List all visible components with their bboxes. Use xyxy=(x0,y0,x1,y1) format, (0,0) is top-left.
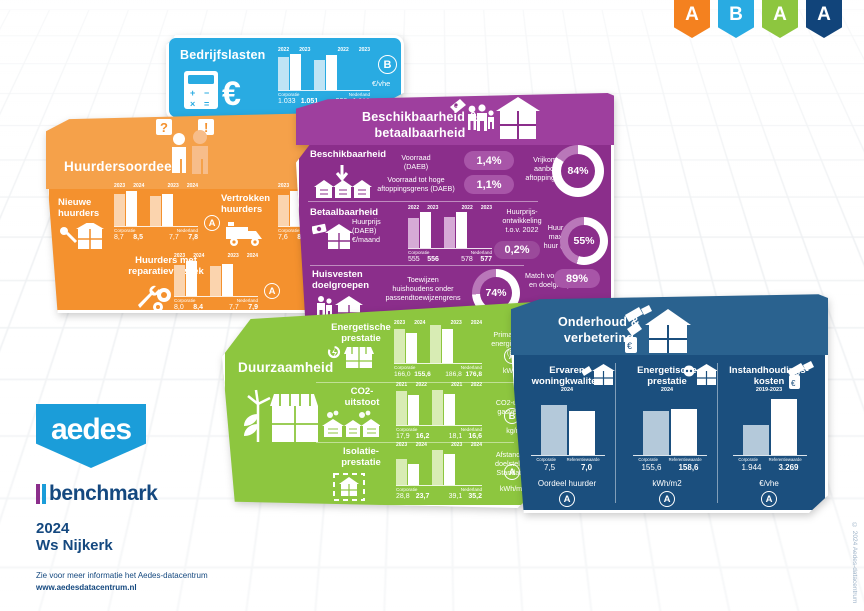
year-label: 2023 xyxy=(174,253,185,259)
grade-instandhoudingskosten: A xyxy=(761,491,777,507)
value: 7,6 xyxy=(278,234,288,241)
year-label: 2022 xyxy=(462,205,473,211)
chart-group-labels: Corporatie Referentiewaarde xyxy=(531,455,605,462)
divider-vertical xyxy=(717,363,718,503)
branding-block: aedes benchmark 2024 Ws Nijkerk Zie voor… xyxy=(36,404,296,594)
year-label: 2024 xyxy=(471,442,482,448)
sub-title-huisvesten: Huisvestendoelgroepen xyxy=(312,269,369,291)
divider-vertical xyxy=(615,363,616,503)
svg-text:€: € xyxy=(627,341,632,351)
value: 35,2 xyxy=(468,493,482,500)
donut-value: 84% xyxy=(567,165,588,177)
group-label: Corporatie xyxy=(408,250,429,255)
year-label: 2023 xyxy=(451,442,462,448)
benchmark-logo: benchmark xyxy=(36,482,296,506)
panel-title-duurzaamheid: Duurzaamheid xyxy=(238,360,333,375)
chart-years: 2022 2023 2022 2023 xyxy=(408,205,492,211)
value: 8,4 xyxy=(193,304,203,311)
row-title-co2-uitstoot: CO2-uitstoot xyxy=(326,386,398,408)
aedes-wordmark: aedes xyxy=(51,413,131,447)
value: 1.944 xyxy=(741,463,761,472)
chart-years: 2021 2022 2021 2022 xyxy=(396,382,482,388)
chart-years: 2023 2024 2023 2024 xyxy=(114,183,198,189)
year-label: 2024 xyxy=(193,253,204,259)
calculator-euro-icon: +− ×= € xyxy=(182,69,260,111)
chart-bars xyxy=(633,397,707,455)
col-period-1: 2024 xyxy=(521,387,613,394)
houses-arrow-down-icon xyxy=(314,163,372,199)
unit-bedrijfslasten: €/vhe xyxy=(372,79,390,88)
corporation-name: Ws Nijkerk xyxy=(36,537,296,554)
value-match-voorraad: 89% xyxy=(554,269,600,288)
family-house-pricetag-icon: € xyxy=(448,95,540,147)
year-label: 2024 xyxy=(247,253,258,259)
value: 23,7 xyxy=(416,493,430,500)
year-label: 2023 xyxy=(278,183,289,189)
info-url[interactable]: www.aedesdatacentrum.nl xyxy=(36,582,296,594)
group-label: Corporatie xyxy=(394,365,415,370)
benchmark-bar-blue xyxy=(42,484,46,504)
donut-huur-maximaal: 55% xyxy=(560,217,608,265)
value-huurprijsontwikkeling: 0,2% xyxy=(494,241,540,259)
chart-values: 17,9 16,2 18,1 16,6 xyxy=(396,433,482,440)
chart-bars xyxy=(396,449,482,485)
unit-ervaren-woningkwaliteit: Oordeel huurder xyxy=(523,479,611,489)
chart-group-labels: Corporatie Nederland xyxy=(114,226,198,233)
value: 555 xyxy=(408,256,420,263)
chart-bars xyxy=(396,389,482,425)
year-label: 2024 xyxy=(133,183,144,189)
donut-value: 55% xyxy=(573,235,594,247)
info-line-1: Zie voor meer informatie het Aedes-datac… xyxy=(36,570,296,582)
panel-title-bedrijfslasten: Bedrijfslasten xyxy=(180,48,265,62)
brush-house-icon xyxy=(581,363,615,387)
panel-onderhoud: Onderhoud &verbetering € Ervarenwoningkw… xyxy=(511,293,828,513)
grade-reparatieverzoek: A xyxy=(264,283,280,299)
moving-truck-icon xyxy=(224,221,268,247)
year-label: 2023 xyxy=(168,183,179,189)
year-label: 2023 xyxy=(396,442,407,448)
year-label: 2024 xyxy=(414,320,425,326)
group-label: Nederland xyxy=(461,365,482,370)
chart-values: 155,6 158,6 xyxy=(633,463,707,472)
chart-group-labels: Corporatie Referentiewaarde xyxy=(633,455,707,462)
chart-years: 2023 2024 2023 2024 xyxy=(174,253,258,259)
row-title-energetische-prestatie: Energetischeprestatie xyxy=(322,322,400,344)
grade-energetische-prestatie-onderhoud: A xyxy=(659,491,675,507)
value: 577 xyxy=(480,256,492,263)
donut-vrijkomend-aanbod: 84% xyxy=(552,145,604,197)
benchmark-wordmark: benchmark xyxy=(49,482,157,506)
value: 17,9 xyxy=(396,433,410,440)
svg-text:×: × xyxy=(190,99,195,109)
chart-years: 2023 2024 2023 2024 xyxy=(396,442,482,448)
group-label: Corporatie xyxy=(396,427,417,432)
insulation-house-icon xyxy=(330,470,368,504)
value: 39,1 xyxy=(449,493,463,500)
chart-group-labels: Corporatie Nederland xyxy=(394,363,482,370)
chart-years: 2022 2023 2022 2023 xyxy=(278,47,370,53)
key-house-icon xyxy=(58,223,108,253)
wrench-gears-icon xyxy=(134,283,178,313)
chart-values: 166,0 155,6 186,8 176,8 xyxy=(394,371,482,378)
report-year: 2024 xyxy=(36,520,296,537)
panel-beschikbaarheid: Beschikbaarheid &betaalbaarheid € Beschi… xyxy=(296,93,614,325)
chart-energetische-prestatie: 2023 2024 2023 2024 Corporatie Nederland… xyxy=(394,320,482,378)
divider xyxy=(308,201,538,202)
year-label: 2023 xyxy=(114,183,125,189)
chart-bars xyxy=(174,260,258,296)
chart-bars xyxy=(408,212,492,248)
divider xyxy=(310,265,524,266)
year-label: 2022 xyxy=(471,382,482,388)
value: 7,0 xyxy=(581,463,592,472)
group-label: Corporatie xyxy=(536,457,556,462)
chart-values: 555 556 578 577 xyxy=(408,256,492,263)
value: 556 xyxy=(427,256,439,263)
year-label: 2023 xyxy=(481,205,492,211)
year-label: 2021 xyxy=(451,382,462,388)
meter-house-icon xyxy=(683,363,717,387)
chart-values: 28,8 23,7 39,1 35,2 xyxy=(396,493,482,500)
value: 166,0 xyxy=(394,371,411,378)
svg-text:=: = xyxy=(204,99,209,109)
year-label: 2023 xyxy=(394,320,405,326)
group-label: Nederland xyxy=(177,228,198,233)
value: 7,5 xyxy=(544,463,555,472)
chart-huurprijs: 2022 2023 2022 2023 Corporatie Nederland… xyxy=(408,205,492,263)
svg-text:€: € xyxy=(791,379,796,388)
year-label: 2021 xyxy=(396,382,407,388)
chart-values: 8,7 8,5 7,7 7,8 xyxy=(114,234,198,241)
chart-group-labels: Corporatie Nederland xyxy=(408,248,492,255)
grade-ervaren-woningkwaliteit: A xyxy=(559,491,575,507)
group-label: Referentiewaarde xyxy=(669,457,702,462)
year-label: 2022 xyxy=(408,205,419,211)
value: 8,0 xyxy=(174,304,184,311)
value: 8,7 xyxy=(114,234,124,241)
year-label: 2022 xyxy=(416,382,427,388)
value: 18,1 xyxy=(449,433,463,440)
group-label: Nederland xyxy=(461,427,482,432)
value: 158,6 xyxy=(678,463,698,472)
caption-huurprijs: Huurprijs(DAEB)€/maand xyxy=(352,217,414,244)
badge-huurdersoordeel: A xyxy=(674,0,710,38)
grade-bedrijfslasten: B xyxy=(378,55,397,74)
badge-letter: A xyxy=(773,4,787,26)
panel-huurdersoordeel: Huurdersoordeel ? ! Nieuwehuurders 2023 … xyxy=(46,113,336,313)
benchmark-bar-purple xyxy=(36,484,40,504)
year-label: 2024 xyxy=(416,442,427,448)
badge-letter: B xyxy=(729,4,743,26)
value: 155,6 xyxy=(414,371,431,378)
group-label: Referentiewaarde xyxy=(567,457,600,462)
tools-pricetag-icon: € xyxy=(783,361,817,389)
row-title-isolatie-prestatie: Isolatie-prestatie xyxy=(322,446,400,468)
info-text: Zie voor meer informatie het Aedes-datac… xyxy=(36,570,296,594)
badge-letter: A xyxy=(817,4,831,26)
svg-text:−: − xyxy=(204,88,209,98)
caption-voorraad-daeb: Voorraad(DAEB) xyxy=(374,153,458,171)
chart-bars xyxy=(733,397,807,455)
group-label: Nederland xyxy=(471,250,492,255)
chart-ervaren-woningkwaliteit: Corporatie Referentiewaarde 7,5 7,0 xyxy=(531,397,605,472)
value: 186,8 xyxy=(445,371,462,378)
svg-text:?: ? xyxy=(160,120,168,135)
year-label: 2024 xyxy=(187,183,198,189)
grade-nieuwe-huurders: A xyxy=(204,215,220,231)
caption-voorraad-aftopping: Voorraad tot hogeaftoppingsgrens (DAEB) xyxy=(368,175,464,193)
year-label: 2024 xyxy=(471,320,482,326)
chart-instandhoudingskosten: Corporatie Referentiewaarde 1.944 3.269 xyxy=(733,397,807,472)
chart-bars xyxy=(278,54,370,90)
chart-energetische-prestatie-onderhoud: Corporatie Referentiewaarde 155,6 158,6 xyxy=(633,397,707,472)
group-label: Corporatie xyxy=(638,457,658,462)
co2-houses-icon xyxy=(322,410,380,438)
value: 3.269 xyxy=(778,463,798,472)
chart-isolatie-prestatie: 2023 2024 2023 2024 Corporatie Nederland… xyxy=(396,442,482,500)
chart-nieuwe-huurders: 2023 2024 2023 2024 Corporatie Nederland… xyxy=(114,183,198,241)
value: 8,5 xyxy=(133,234,143,241)
chart-group-labels: Corporatie Nederland xyxy=(396,425,482,432)
two-people-question-exclaim-icon: ? ! xyxy=(154,117,224,181)
value: 16,2 xyxy=(416,433,430,440)
value-voorraad-daeb: 1,4% xyxy=(464,151,514,170)
chart-values: 1.944 3.269 xyxy=(733,463,807,472)
value: 578 xyxy=(461,256,473,263)
group-label: Referentiewaarde xyxy=(769,457,802,462)
aedes-logo: aedes xyxy=(36,404,146,468)
chart-bars xyxy=(531,397,605,455)
year-label: 2023 xyxy=(299,47,310,53)
year-label: 2022 xyxy=(338,47,349,53)
chart-bars xyxy=(394,327,482,363)
year-label: 2023 xyxy=(359,47,370,53)
unit-instandhoudingskosten: €/vhe xyxy=(725,479,813,489)
value: 7,7 xyxy=(169,234,179,241)
chart-group-labels: Corporatie Nederland xyxy=(396,485,482,492)
value: 28,8 xyxy=(396,493,410,500)
year-label: 2023 xyxy=(427,205,438,211)
copyright-text: © 2024 Aedes-datacentrum xyxy=(851,522,858,603)
value: 7,8 xyxy=(188,234,198,241)
value: 1.033 xyxy=(278,98,296,105)
svg-text:€: € xyxy=(222,75,241,111)
score-badges: A B A A xyxy=(674,0,842,38)
svg-text:+: + xyxy=(190,88,195,98)
group-label: Corporatie xyxy=(114,228,135,233)
badge-onderhoud: A xyxy=(806,0,842,38)
year-label: 2023 xyxy=(228,253,239,259)
chart-co2-uitstoot: 2021 2022 2021 2022 Corporatie Nederland… xyxy=(396,382,482,440)
badge-duurzaamheid: A xyxy=(762,0,798,38)
group-label: Corporatie xyxy=(396,487,417,492)
badge-bedrijfslasten: B xyxy=(718,0,754,38)
badge-letter: A xyxy=(685,4,699,26)
infographic-stage: A B A A Bedrijfslasten +− ×= € 2022 2023… xyxy=(0,0,864,611)
value-voorraad-aftopping: 1,1% xyxy=(464,175,514,194)
group-label: Corporatie xyxy=(738,457,758,462)
chart-values: 7,5 7,0 xyxy=(531,463,605,472)
energy-house-icon xyxy=(326,344,376,370)
chart-bars xyxy=(114,190,198,226)
chart-group-labels: Corporatie Referentiewaarde xyxy=(733,455,807,462)
year-label: 2022 xyxy=(278,47,289,53)
value: 155,6 xyxy=(641,463,661,472)
group-label: Corporatie xyxy=(174,298,195,303)
unit-energetische-prestatie-onderhoud: kWh/m2 xyxy=(625,479,709,489)
col-period-2: 2024 xyxy=(623,387,711,394)
paintbrush-house-pricetag-icon: € xyxy=(623,303,701,359)
